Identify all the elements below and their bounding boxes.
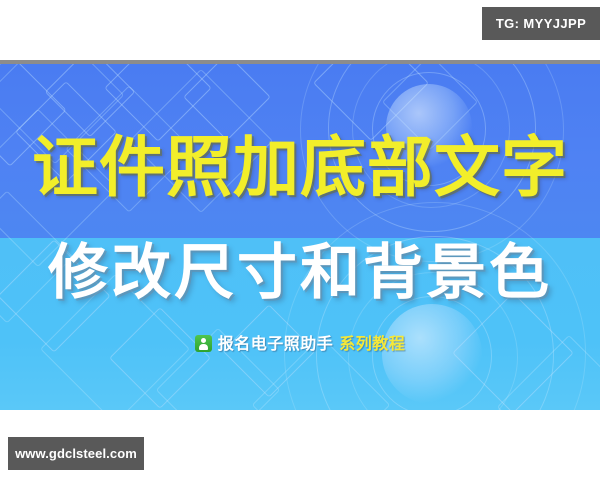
bottom-watermark-text: www.gdclsteel.com [15, 446, 137, 461]
person-icon-head [201, 338, 206, 343]
person-badge-icon [195, 335, 212, 352]
top-watermark-text: TG: MYYJJPP [496, 16, 586, 31]
caption-highlight-text: 系列教程 [339, 336, 405, 352]
top-watermark-badge: TG: MYYJJPP [482, 7, 600, 40]
banner-top-divider [0, 60, 600, 64]
headline-line-1: 证件照加底部文字 [0, 134, 600, 200]
person-icon-body [199, 344, 208, 350]
headline-line-2: 修改尺寸和背景色 [0, 243, 600, 303]
caption-primary-text: 报名电子照助手 [218, 336, 334, 352]
bottom-watermark-badge: www.gdclsteel.com [8, 437, 144, 470]
caption-row: 报名电子照助手 系列教程 [0, 335, 600, 352]
promo-banner: 证件照加底部文字 修改尺寸和背景色 报名电子照助手 系列教程 [0, 60, 600, 410]
